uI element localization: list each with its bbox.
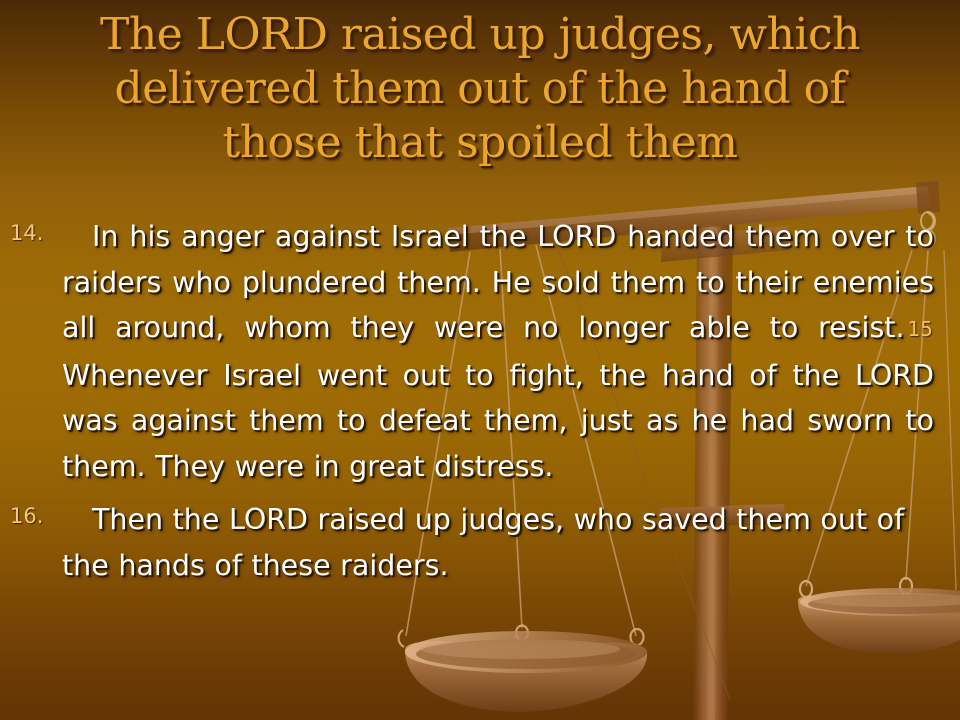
verse-16-text: Then the LORD raised up judges, who save…	[62, 503, 904, 582]
presentation-slide: The LORD raised up judges, which deliver…	[0, 0, 960, 720]
verse-paragraph-14: In his anger against Israel the LORD han…	[62, 214, 934, 489]
list-item: 14. In his anger against Israel the LORD…	[0, 214, 960, 489]
list-marker-14: 14.	[10, 220, 43, 246]
title-line-3: those that spoiled them	[24, 116, 936, 170]
inline-verse-number-15: 15	[905, 317, 934, 341]
title-line-2: delivered them out of the hand of	[24, 62, 936, 116]
slide-title: The LORD raised up judges, which deliver…	[24, 8, 936, 170]
verse-15-text: Whenever Israel went out to fight, the h…	[62, 359, 934, 483]
list-item: 16. Then the LORD raised up judges, who …	[0, 497, 960, 588]
slide-body: 14. In his anger against Israel the LORD…	[0, 214, 960, 596]
title-line-1: The LORD raised up judges, which	[24, 8, 936, 62]
verse-14-text: In his anger against Israel the LORD han…	[62, 220, 934, 344]
list-marker-16: 16.	[10, 503, 43, 529]
verse-paragraph-16: Then the LORD raised up judges, who save…	[62, 497, 934, 588]
